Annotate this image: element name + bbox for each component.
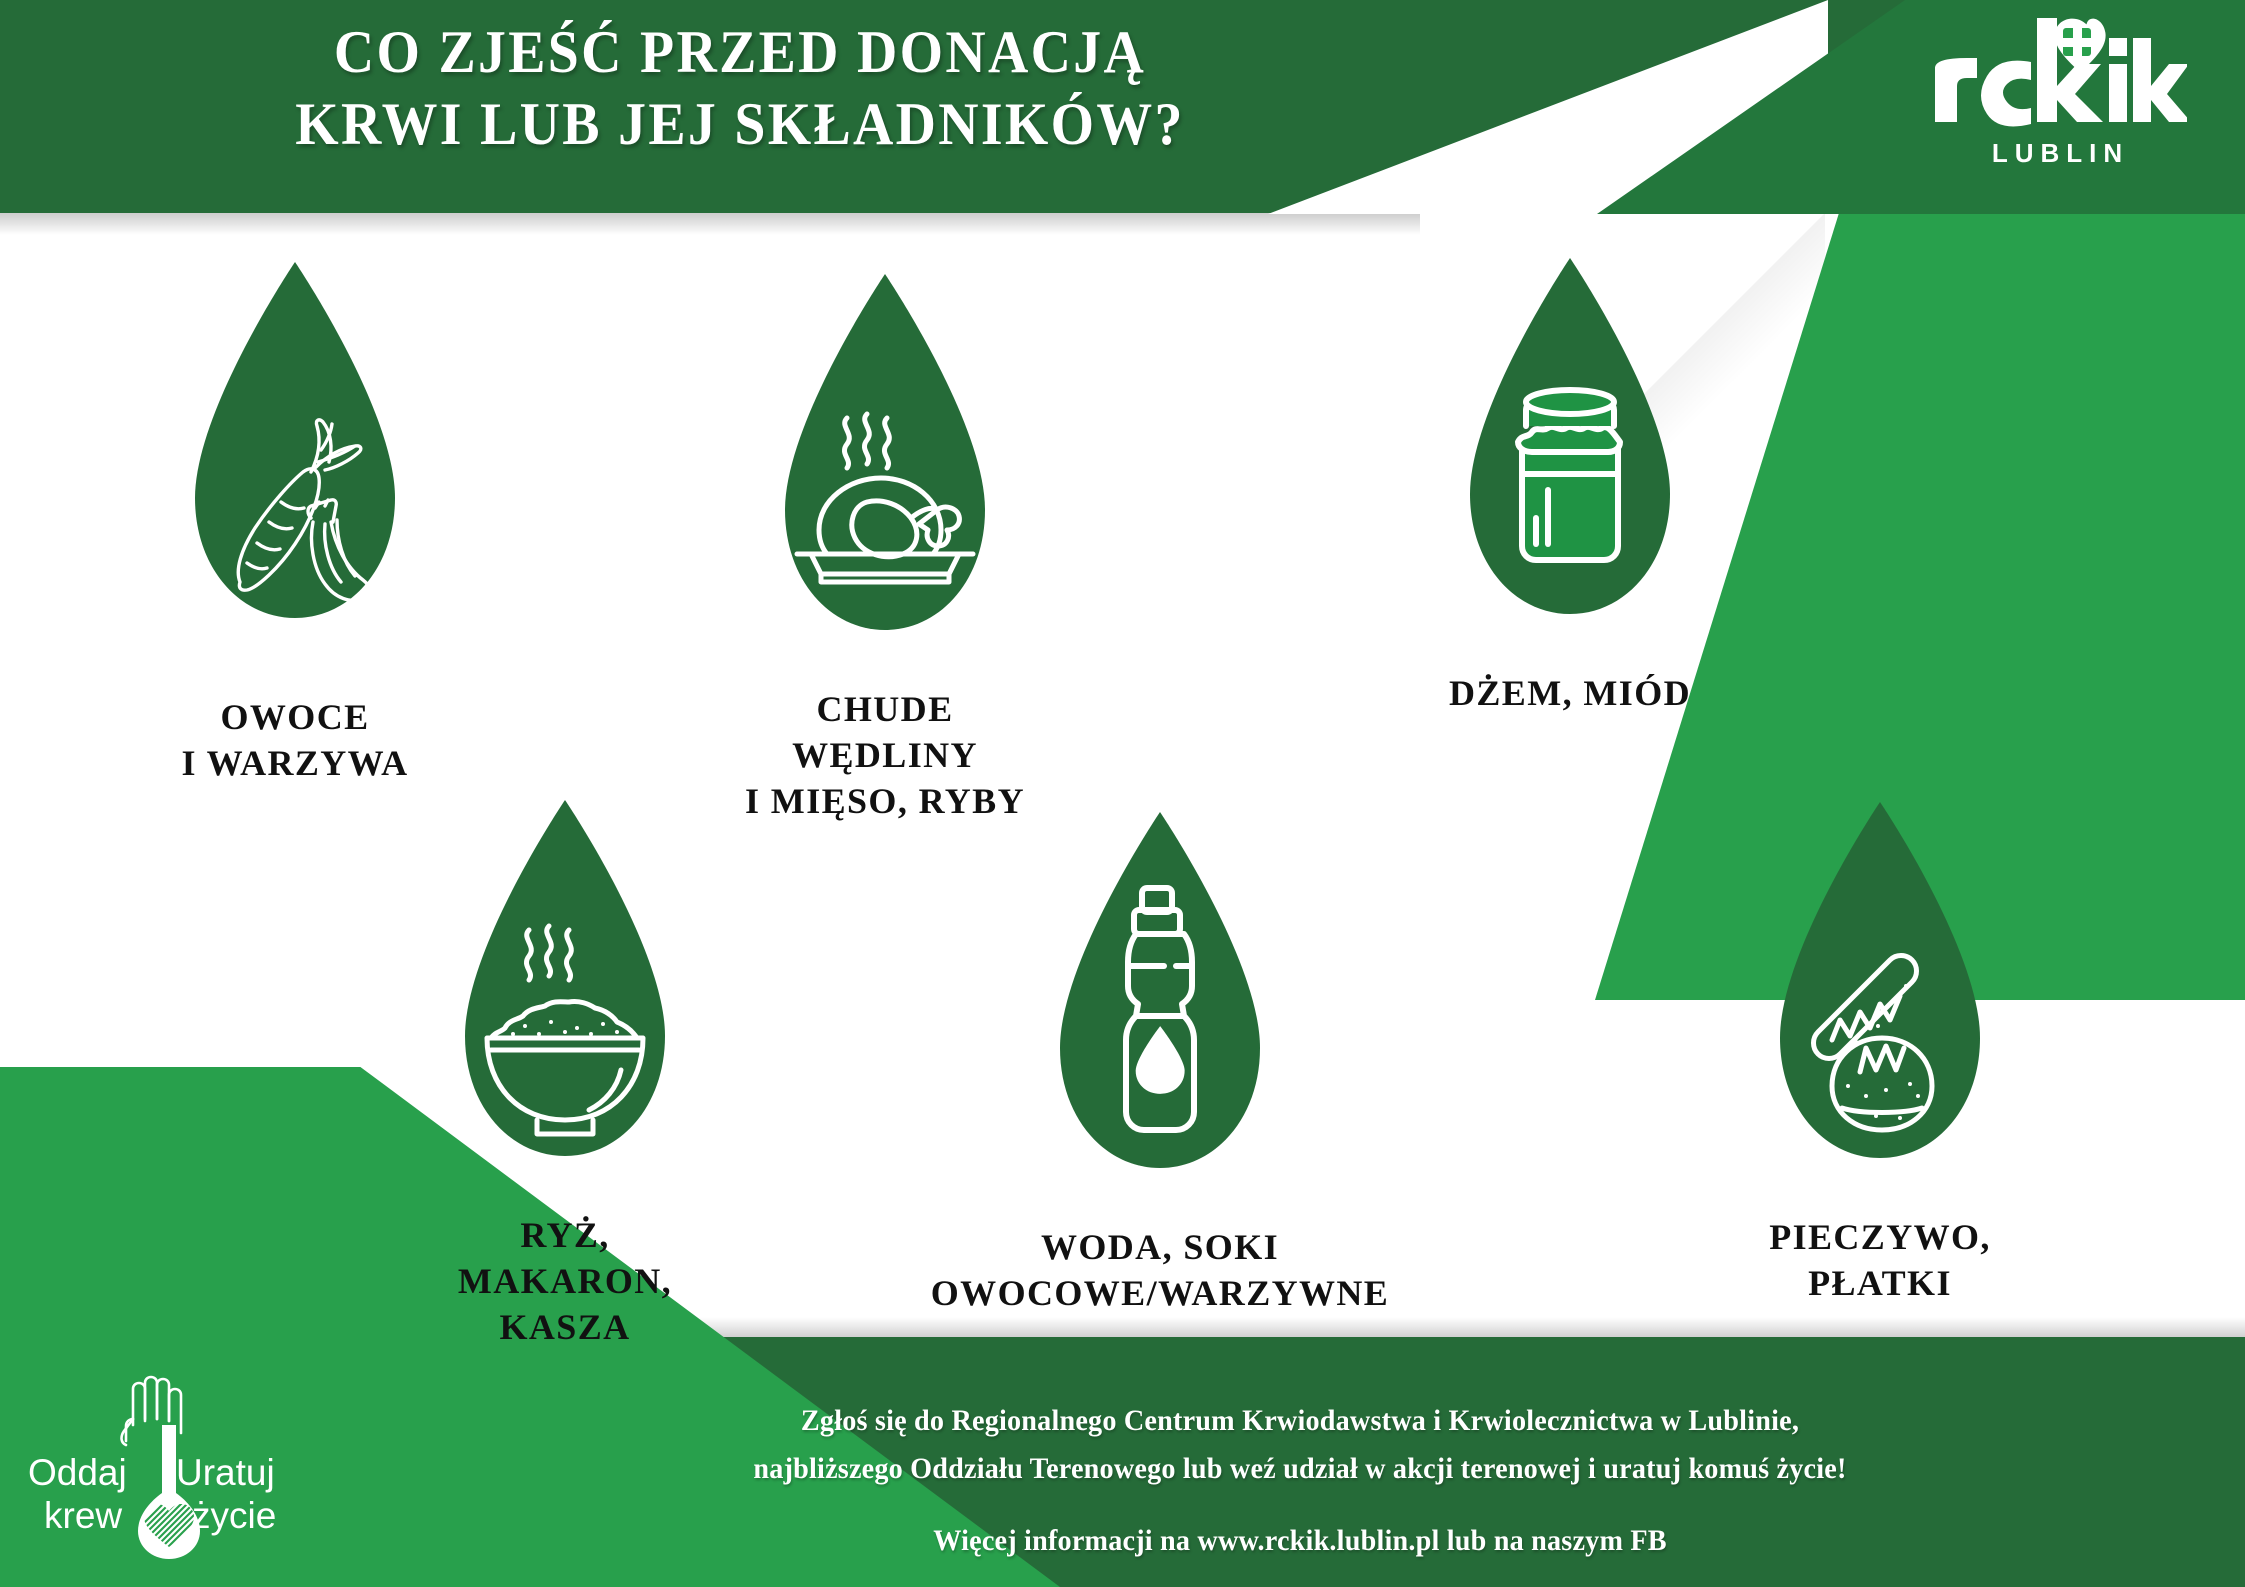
footer-line-1: Zgłoś się do Regionalnego Centrum Krwiod… <box>492 1397 2109 1445</box>
item-chude-wedliny[interactable]: CHUDE WĘDLINY I MIĘSO, RYBY <box>645 262 1125 824</box>
item-label-line: WĘDLINY <box>645 732 1125 778</box>
item-label-line: WODA, SOKI <box>800 1224 1520 1270</box>
water-bottle-icon <box>1050 800 1270 1220</box>
carrot-and-banana-icon <box>185 250 405 690</box>
item-label-line: KASZA <box>330 1304 800 1350</box>
header-band-shadow <box>0 213 1420 235</box>
roast-chicken-on-platter-icon <box>775 262 995 682</box>
oddaj-krew-uratuj-zycie-logo[interactable]: Oddaj Uratuj krew życie <box>16 1363 326 1563</box>
page-title-line-1: CO ZJEŚĆ PRZED DONACJĄ <box>191 16 1288 88</box>
item-owoce-i-warzywa[interactable]: OWOCE I WARZYWA <box>60 250 530 786</box>
item-label-line: PIECZYWO, <box>1640 1214 2120 1260</box>
rckik-logo-subtitle: LUBLIN <box>1927 138 2187 169</box>
item-dzem-miod[interactable]: DŻEM, MIÓD <box>1330 246 1810 716</box>
item-label-line: PŁATKI <box>1640 1260 2120 1306</box>
item-label-line: OWOCOWE/WARZYWNE <box>800 1270 1520 1316</box>
item-label-line: RYŻ, <box>330 1212 800 1258</box>
campaign-logo-zycie: życie <box>192 1495 276 1536</box>
footer-line-2: najbliższego Oddziału Terenowego lub weź… <box>492 1445 2109 1493</box>
jam-jar-icon <box>1460 246 1680 666</box>
page-title-line-2: KRWI LUB JEJ SKŁADNIKÓW? <box>191 88 1288 160</box>
campaign-logo-oddaj: Oddaj <box>28 1452 127 1493</box>
campaign-logo-krew: krew <box>44 1495 122 1536</box>
item-woda-soki[interactable]: WODA, SOKI OWOCOWE/WARZYWNE <box>800 800 1520 1316</box>
item-label-line: MAKARON, <box>330 1258 800 1304</box>
rckik-wordmark-icon <box>1927 14 2187 134</box>
footer-line-3: Więcej informacji na www.rckik.lublin.pl… <box>492 1517 2109 1565</box>
campaign-logo-uratuj: Uratuj <box>176 1452 275 1493</box>
infographic-poster: CO ZJEŚĆ PRZED DONACJĄ KRWI LUB JEJ SKŁA… <box>0 0 2245 1587</box>
bread-loaf-and-baguette-icon <box>1770 790 1990 1210</box>
rckik-logo[interactable]: LUBLIN <box>1927 14 2187 169</box>
item-label-line: I WARZYWA <box>60 740 530 786</box>
item-label-line: DŻEM, MIÓD <box>1330 670 1810 716</box>
item-pieczywo-platki[interactable]: PIECZYWO, PŁATKI <box>1640 790 2120 1306</box>
item-ryz-makaron-kasza[interactable]: RYŻ, MAKARON, KASZA <box>330 788 800 1350</box>
item-label-line: CHUDE <box>645 686 1125 732</box>
footer-message: Zgłoś się do Regionalnego Centrum Krwiod… <box>440 1397 2160 1565</box>
page-title: CO ZJEŚĆ PRZED DONACJĄ KRWI LUB JEJ SKŁA… <box>150 16 1330 160</box>
rice-bowl-icon <box>455 788 675 1208</box>
item-label-line: OWOCE <box>60 694 530 740</box>
